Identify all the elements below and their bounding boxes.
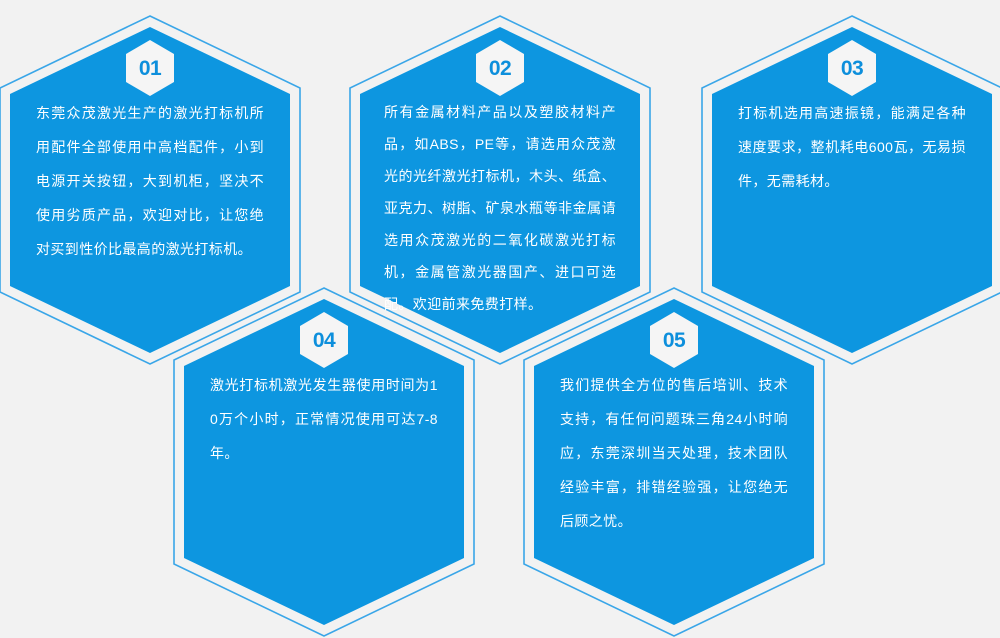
badge-number-04: 04 (300, 312, 348, 368)
feature-card-04[interactable]: 04 激光打标机激光发生器使用时间为10万个小时，正常情况使用可达7-8年。 (172, 286, 476, 638)
feature-card-05[interactable]: 05 我们提供全方位的售后培训、技术支持，有任何问题珠三角24小时响应，东莞深圳… (522, 286, 826, 638)
badge-03: 03 (828, 40, 876, 96)
badge-number-05: 05 (650, 312, 698, 368)
badge-02: 02 (476, 40, 524, 96)
badge-number-01: 01 (126, 40, 174, 96)
hexagon-feature-grid: 01 东莞众茂激光生产的激光打标机所用配件全部使用中高档配件，小到电源开关按钮，… (0, 0, 1000, 631)
badge-01: 01 (126, 40, 174, 96)
badge-number-03: 03 (828, 40, 876, 96)
badge-05: 05 (650, 312, 698, 368)
badge-04: 04 (300, 312, 348, 368)
badge-number-02: 02 (476, 40, 524, 96)
